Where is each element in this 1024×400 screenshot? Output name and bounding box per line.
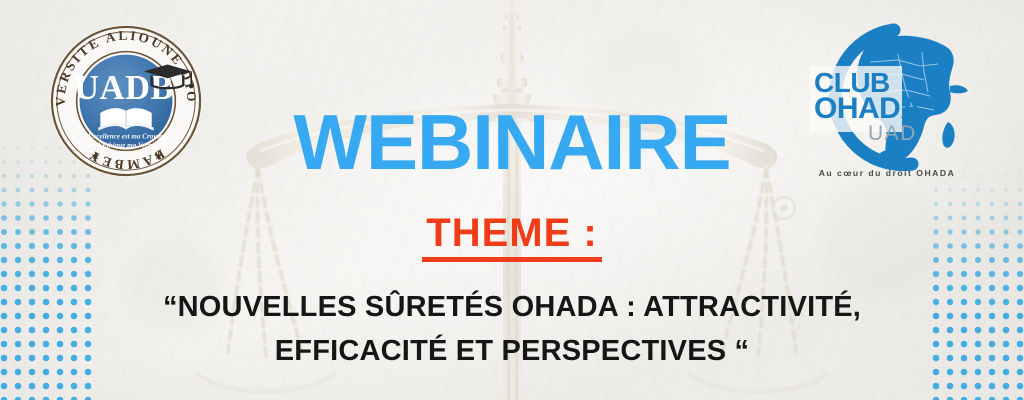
theme-label-row: THEME : bbox=[0, 212, 1024, 262]
theme-label: THEME : bbox=[422, 212, 601, 262]
theme-subject-line-1: “NOUVELLES SÛRETÉS OHADA : ATTRACTIVITÉ, bbox=[0, 285, 1024, 329]
page-title: WEBINAIRE bbox=[0, 103, 1024, 181]
webinar-banner: UNIVERSITE ALIOUNE DIOP de BAMBEY ★ ★ UA… bbox=[0, 0, 1024, 400]
theme-subject: “NOUVELLES SÛRETÉS OHADA : ATTRACTIVITÉ,… bbox=[0, 285, 1024, 373]
theme-subject-line-2: EFFICACITÉ ET PERSPECTIVES “ bbox=[0, 329, 1024, 373]
